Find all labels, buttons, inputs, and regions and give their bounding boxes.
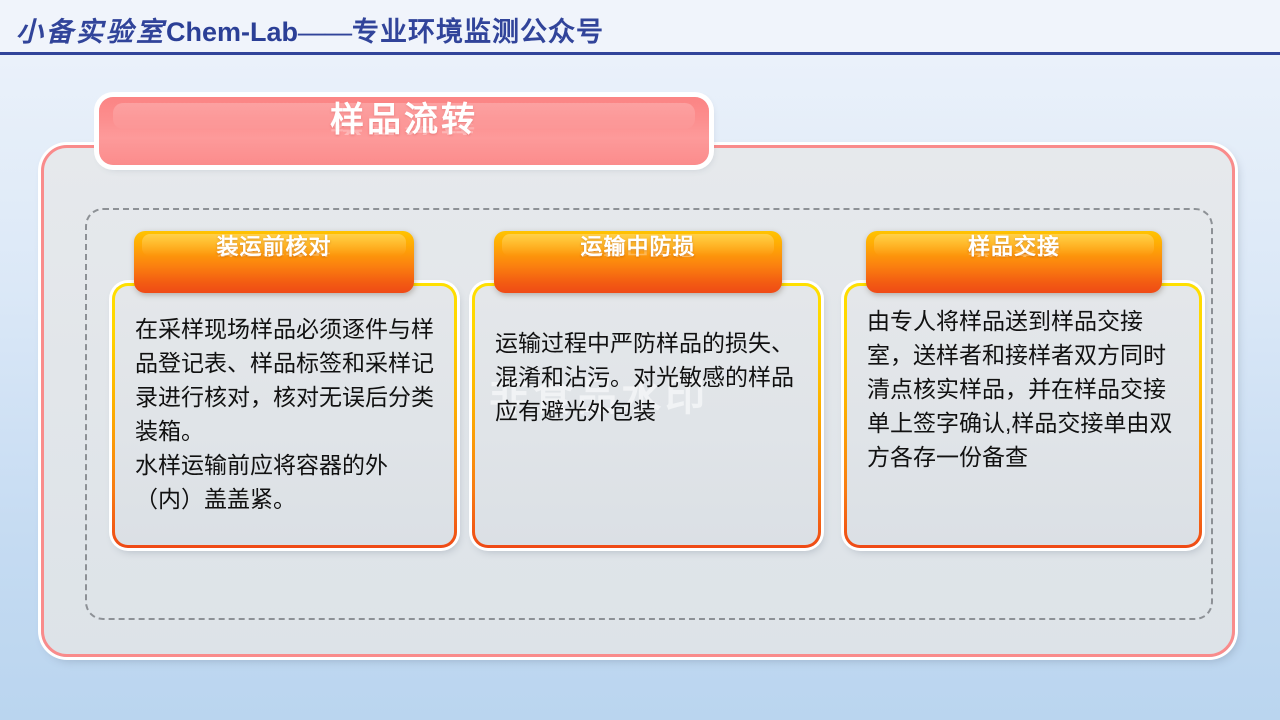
card-text-transport-protection: 运输过程中严防样品的损失、混淆和沾污。对光敏感的样品应有避光外包装 <box>495 326 806 428</box>
card-body-inner: 由专人将样品送到样品交接室，送样者和接样者双方同时清点核实样品，并在样品交接单上… <box>847 286 1199 545</box>
logo-dash: —— <box>298 17 352 47</box>
card-header-shipping-check[interactable]: 装运前核对 装运前核对 <box>134 231 414 293</box>
card-body-inner: 在采样现场样品必须逐件与样品登记表、样品标签和采样记录进行核对，核对无误后分类装… <box>115 286 454 545</box>
slide-title-reflection: 样品流转 <box>99 114 709 135</box>
content-panel: 装运前核对 装运前核对 在采样现场样品必须逐件与样品登记表、样品标签和采样记录进… <box>41 145 1235 657</box>
header-divider <box>0 52 1280 55</box>
card-text-sample-handover: 由专人将样品送到样品交接室，送样者和接样者双方同时清点核实样品，并在样品交接单上… <box>867 304 1187 474</box>
card-header-text-wrap: 运输中防损 运输中防损 <box>494 236 782 279</box>
card-body-transport-protection: 非食品水印 运输过程中严防样品的损失、混淆和沾污。对光敏感的样品应有避光外包装 <box>472 283 821 548</box>
card-header-transport-protection[interactable]: 运输中防损 运输中防损 <box>494 231 782 293</box>
card-body-shipping-check: 在采样现场样品必须逐件与样品登记表、样品标签和采样记录进行核对，核对无误后分类装… <box>112 283 457 548</box>
card-body-inner: 非食品水印 运输过程中严防样品的损失、混淆和沾污。对光敏感的样品应有避光外包装 <box>475 286 818 545</box>
card-header-reflection: 装运前核对 <box>134 244 414 257</box>
site-logo: 小备实验室Chem-Lab——专业环境监测公众号 <box>16 10 604 49</box>
card-header-sample-handover[interactable]: 样品交接 样品交接 <box>866 231 1162 293</box>
card-header-reflection: 运输中防损 <box>494 244 782 257</box>
logo-tagline: 专业环境监测公众号 <box>352 17 604 48</box>
site-header: 小备实验室Chem-Lab——专业环境监测公众号 <box>0 0 1280 54</box>
slide-title-banner: 样品流转 样品流转 <box>99 97 709 165</box>
logo-brand-cn: 小备实验室 <box>16 17 166 48</box>
logo-brand-latin: Chem-Lab <box>166 17 298 47</box>
card-text-shipping-check: 在采样现场样品必须逐件与样品登记表、样品标签和采样记录进行核对，核对无误后分类装… <box>135 312 442 516</box>
slide-title-wrap: 样品流转 样品流转 <box>99 103 709 165</box>
card-header-text-wrap: 装运前核对 装运前核对 <box>134 236 414 279</box>
card-body-sample-handover: 由专人将样品送到样品交接室，送样者和接样者双方同时清点核实样品，并在样品交接单上… <box>844 283 1202 548</box>
card-header-reflection: 样品交接 <box>866 244 1162 257</box>
card-header-text-wrap: 样品交接 样品交接 <box>866 236 1162 279</box>
